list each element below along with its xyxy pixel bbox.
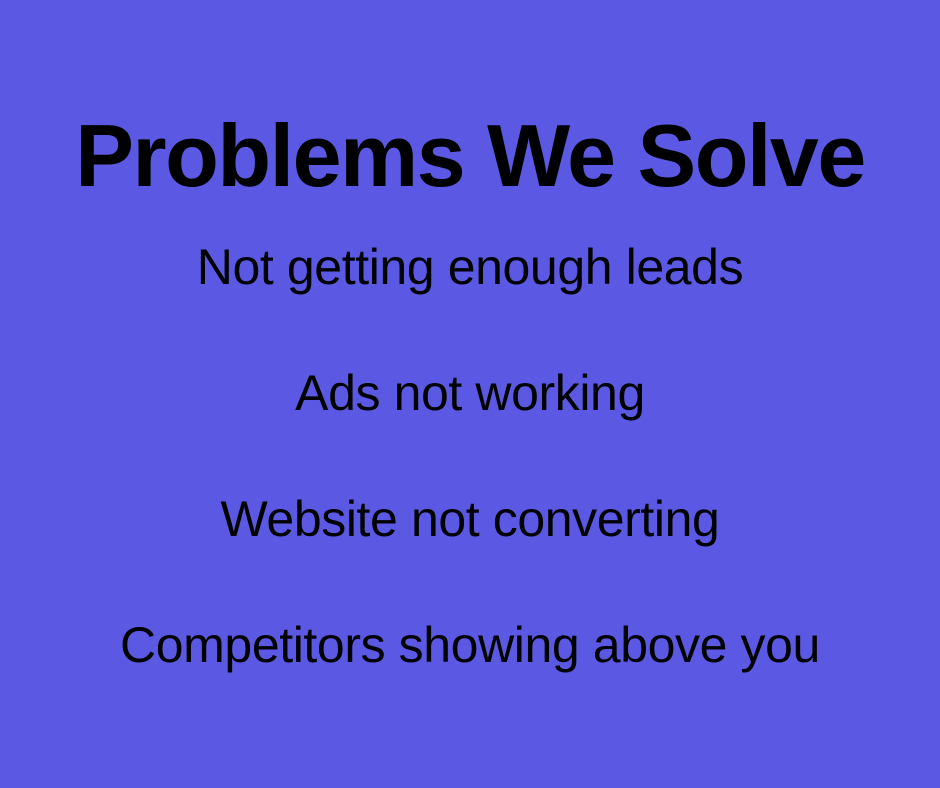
page-title: Problems We Solve xyxy=(0,106,940,206)
list-item: Not getting enough leads xyxy=(0,232,940,358)
problem-list: Not getting enough leads Ads not working… xyxy=(0,232,940,736)
list-item: Competitors showing above you xyxy=(0,610,940,736)
list-item: Website not converting xyxy=(0,484,940,610)
problems-we-solve-slide: Problems We Solve Not getting enough lea… xyxy=(0,0,940,788)
list-item: Ads not working xyxy=(0,358,940,484)
